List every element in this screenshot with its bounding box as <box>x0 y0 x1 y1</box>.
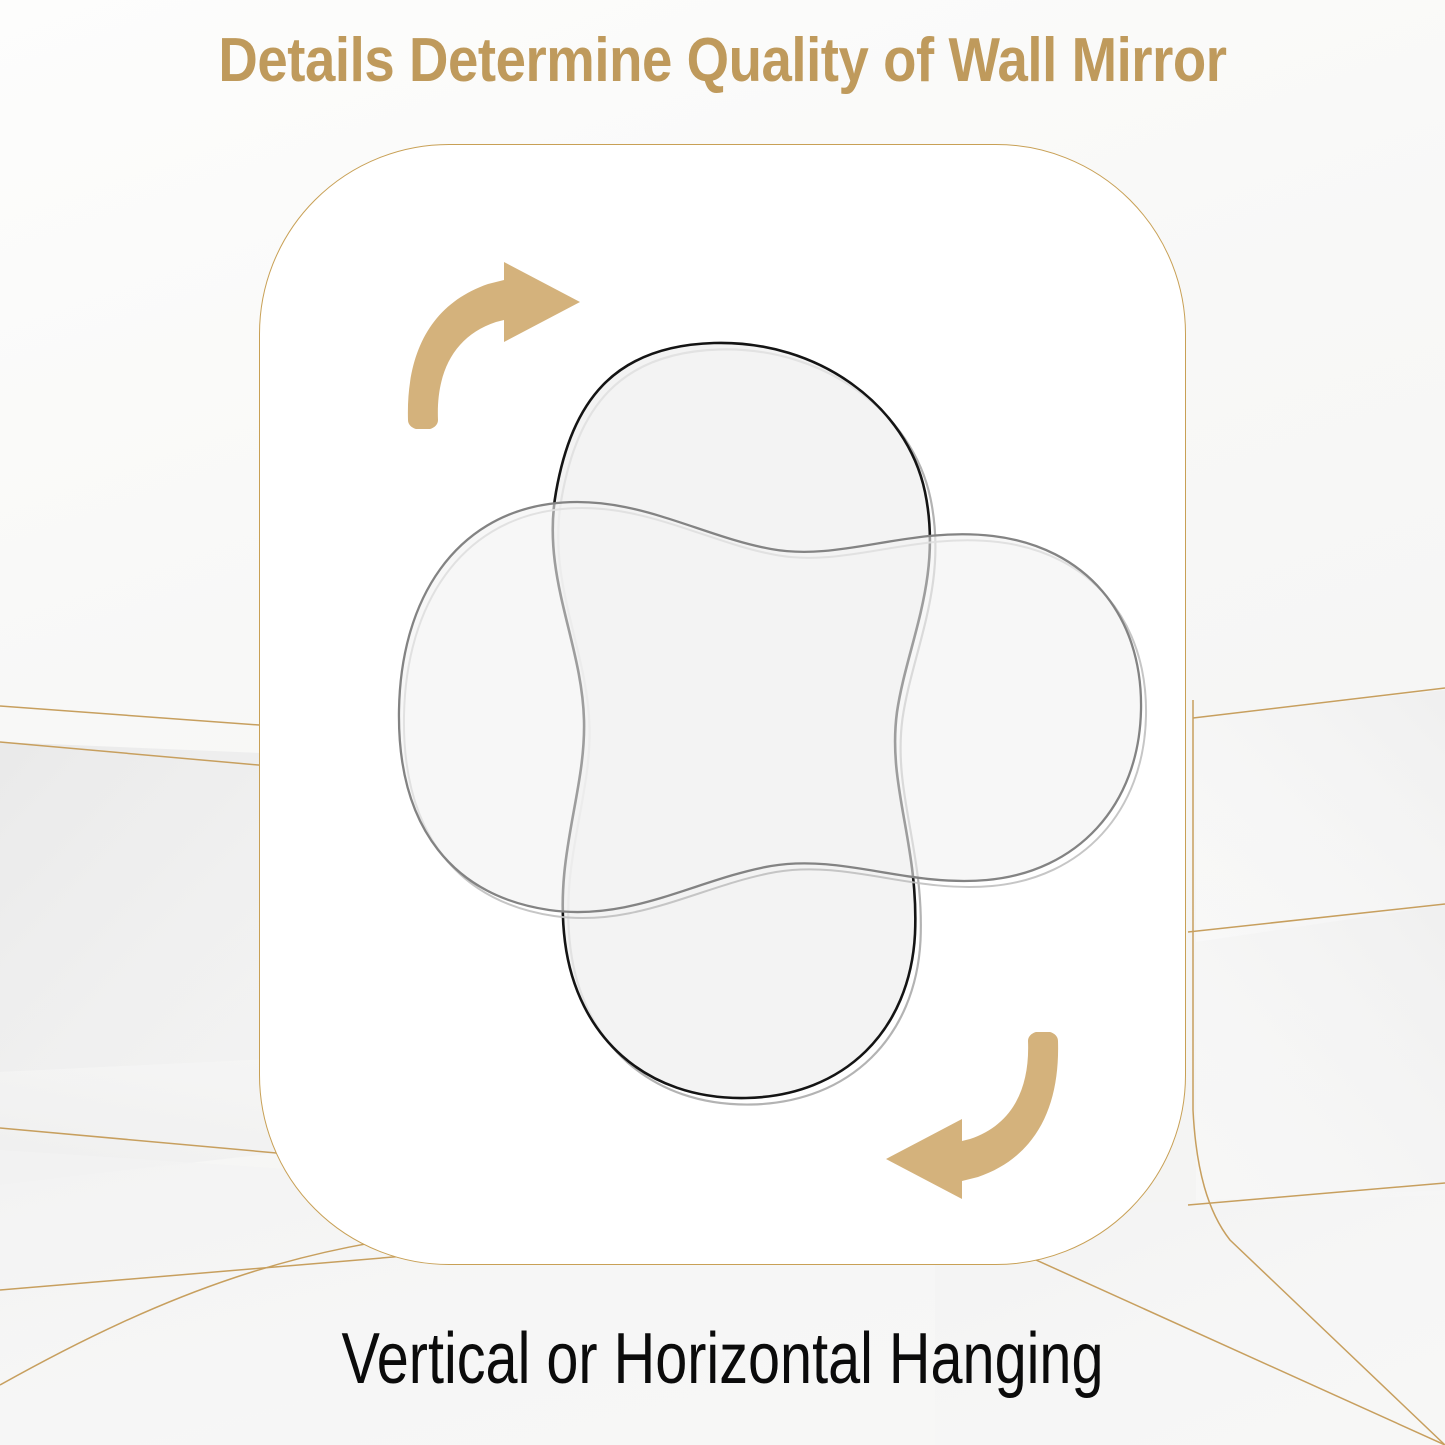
page-title: Details Determine Quality of Wall Mirror <box>87 28 1359 95</box>
gold-line-right-b <box>1188 1183 1445 1205</box>
product-marketing-image: Details Determine Quality of Wall Mirror… <box>0 0 1445 1445</box>
caption-text: Vertical or Horizontal Hanging <box>145 1322 1301 1398</box>
bg-panel-right <box>1196 900 1445 1205</box>
product-card <box>259 144 1186 1265</box>
gold-line-right-c <box>1193 688 1445 718</box>
gold-line-right-a <box>1188 904 1445 932</box>
bg-panel-top-right <box>1196 690 1445 942</box>
